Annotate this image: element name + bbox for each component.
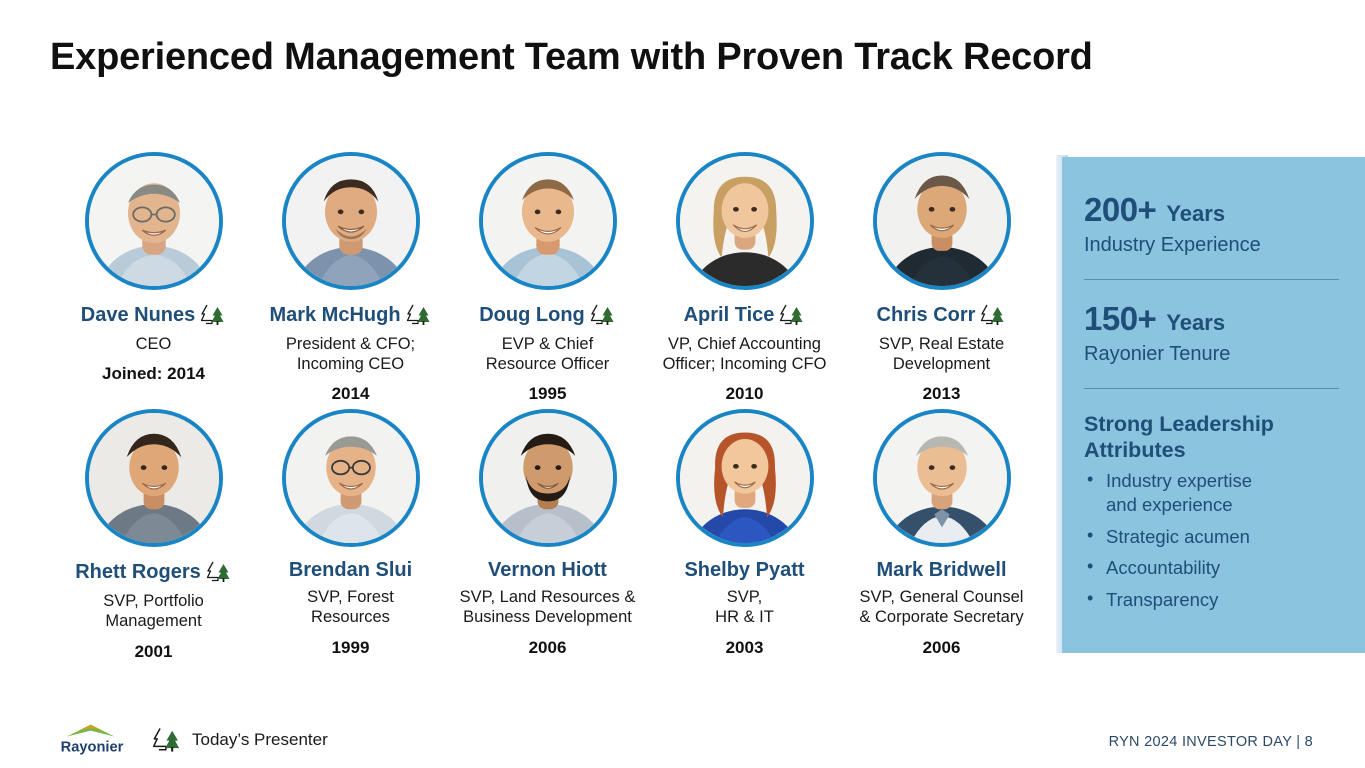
stat-headline: 200+ Years [1084,193,1339,226]
presenter-tree-icon [779,302,805,328]
person-year: 2014 [332,384,370,404]
stat-sublabel: Rayonier Tenure [1084,343,1339,366]
person-name: Brendan Slui [289,559,412,581]
list-item: Strategic acumen [1084,525,1339,549]
list-item: Accountability [1084,556,1339,580]
person-name-line: Chris Corr [877,302,1007,328]
avatar [676,152,814,290]
person-year: 2013 [923,384,961,404]
presenter-legend-label: Today’s Presenter [192,730,328,750]
person-name-line: April Tice [684,302,806,328]
list-item: Transparency [1084,588,1339,612]
footer-left: Rayonier Today’s Presenter [52,722,328,758]
divider [1084,279,1339,280]
person-role: SVP, Portfolio Management [103,591,204,631]
person-name: Rhett Rogers [75,561,201,583]
stat-headline: 150+ Years [1084,302,1339,335]
svg-text:Rayonier: Rayonier [61,739,124,755]
team-row-2: Rhett Rogers SVP, Portfolio Management 2… [55,409,1040,661]
person-role: EVP & Chief Resource Officer [486,334,610,374]
avatar [85,409,223,547]
person-year: 2001 [135,642,173,662]
presenter-tree-icon [200,302,226,328]
person-card[interactable]: Brendan Slui SVP, Forest Resources 1999 [252,409,449,657]
stat-number: 150+ [1084,302,1156,335]
team-row-1: Dave Nunes CEO Joined: 2014 [55,152,1040,404]
presenter-tree-icon [406,302,432,328]
presenter-legend: Today’s Presenter [152,725,328,755]
person-name: Dave Nunes [81,304,196,326]
stat-unit: Years [1166,203,1225,225]
person-card[interactable]: Rhett Rogers SVP, Portfolio Management 2… [55,409,252,661]
person-role: VP, Chief Accounting Officer; Incoming C… [663,334,827,374]
person-card[interactable]: Chris Corr SVP, Real Estate Development … [843,152,1040,404]
person-name-line: Brendan Slui [289,559,412,581]
person-role: CEO [136,334,172,354]
person-card[interactable]: Vernon Hiott SVP, Land Resources & Busin… [449,409,646,657]
person-year: 2003 [726,638,764,658]
person-name-line: Shelby Pyatt [684,559,804,581]
person-card[interactable]: Dave Nunes CEO Joined: 2014 [55,152,252,384]
stat-industry-experience: 200+ Years Industry Experience [1074,193,1339,257]
person-name: Vernon Hiott [488,559,607,581]
person-card[interactable]: Shelby Pyatt SVP, HR & IT 2003 [646,409,843,657]
person-year: 1995 [529,384,567,404]
person-name: Shelby Pyatt [684,559,804,581]
stat-unit: Years [1166,312,1225,334]
page-title: Experienced Management Team with Proven … [50,36,1093,79]
avatar [479,152,617,290]
person-name-line: Vernon Hiott [488,559,607,581]
presenter-tree-icon [980,302,1006,328]
person-name: Chris Corr [877,304,976,326]
person-name: Mark McHugh [269,304,400,326]
person-card[interactable]: Doug Long EVP & Chief Resource Officer 1… [449,152,646,404]
person-name-line: Doug Long [479,302,616,328]
person-card[interactable]: Mark McHugh President & CFO; Incoming CE… [252,152,449,404]
person-role: SVP, HR & IT [715,587,774,627]
person-year: Joined: 2014 [102,364,205,384]
team-grid: Dave Nunes CEO Joined: 2014 [55,152,1040,662]
divider [1084,388,1339,389]
person-name-line: Dave Nunes [81,302,227,328]
person-card[interactable]: April Tice VP, Chief Accounting Officer;… [646,152,843,404]
person-name-line: Mark McHugh [269,302,431,328]
person-year: 2006 [923,638,961,658]
person-name-line: Rhett Rogers [75,559,232,585]
stat-rayonier-tenure: 150+ Years Rayonier Tenure [1074,302,1339,366]
person-role: SVP, General Counsel & Corporate Secreta… [859,587,1023,627]
stat-sublabel: Industry Experience [1084,234,1339,257]
avatar [85,152,223,290]
person-name: Doug Long [479,304,585,326]
person-name: Mark Bridwell [876,559,1006,581]
person-role: President & CFO; Incoming CEO [286,334,415,374]
avatar [676,409,814,547]
person-role: SVP, Land Resources & Business Developme… [460,587,636,627]
slide: Experienced Management Team with Proven … [0,0,1365,768]
presenter-tree-icon [152,725,182,755]
avatar [479,409,617,547]
presenter-tree-icon [590,302,616,328]
footer-deck-info: RYN 2024 INVESTOR DAY | 8 [1109,734,1313,750]
attributes-title: Strong Leadership Attributes [1074,411,1339,463]
rayonier-logo: Rayonier [52,722,132,758]
stats-panel: 200+ Years Industry Experience 150+ Year… [1062,157,1365,653]
stat-number: 200+ [1084,193,1156,226]
person-year: 1999 [332,638,370,658]
person-year: 2010 [726,384,764,404]
person-name: April Tice [684,304,775,326]
presenter-tree-icon [206,559,232,585]
attributes-list: Industry expertise and experience Strate… [1074,469,1339,611]
person-name-line: Mark Bridwell [876,559,1006,581]
avatar [873,152,1011,290]
person-role: SVP, Forest Resources [307,587,394,627]
avatar [282,409,420,547]
person-year: 2006 [529,638,567,658]
list-item: Industry expertise and experience [1084,469,1339,516]
person-card[interactable]: Mark Bridwell SVP, General Counsel & Cor… [843,409,1040,657]
person-role: SVP, Real Estate Development [879,334,1004,374]
avatar [873,409,1011,547]
avatar [282,152,420,290]
